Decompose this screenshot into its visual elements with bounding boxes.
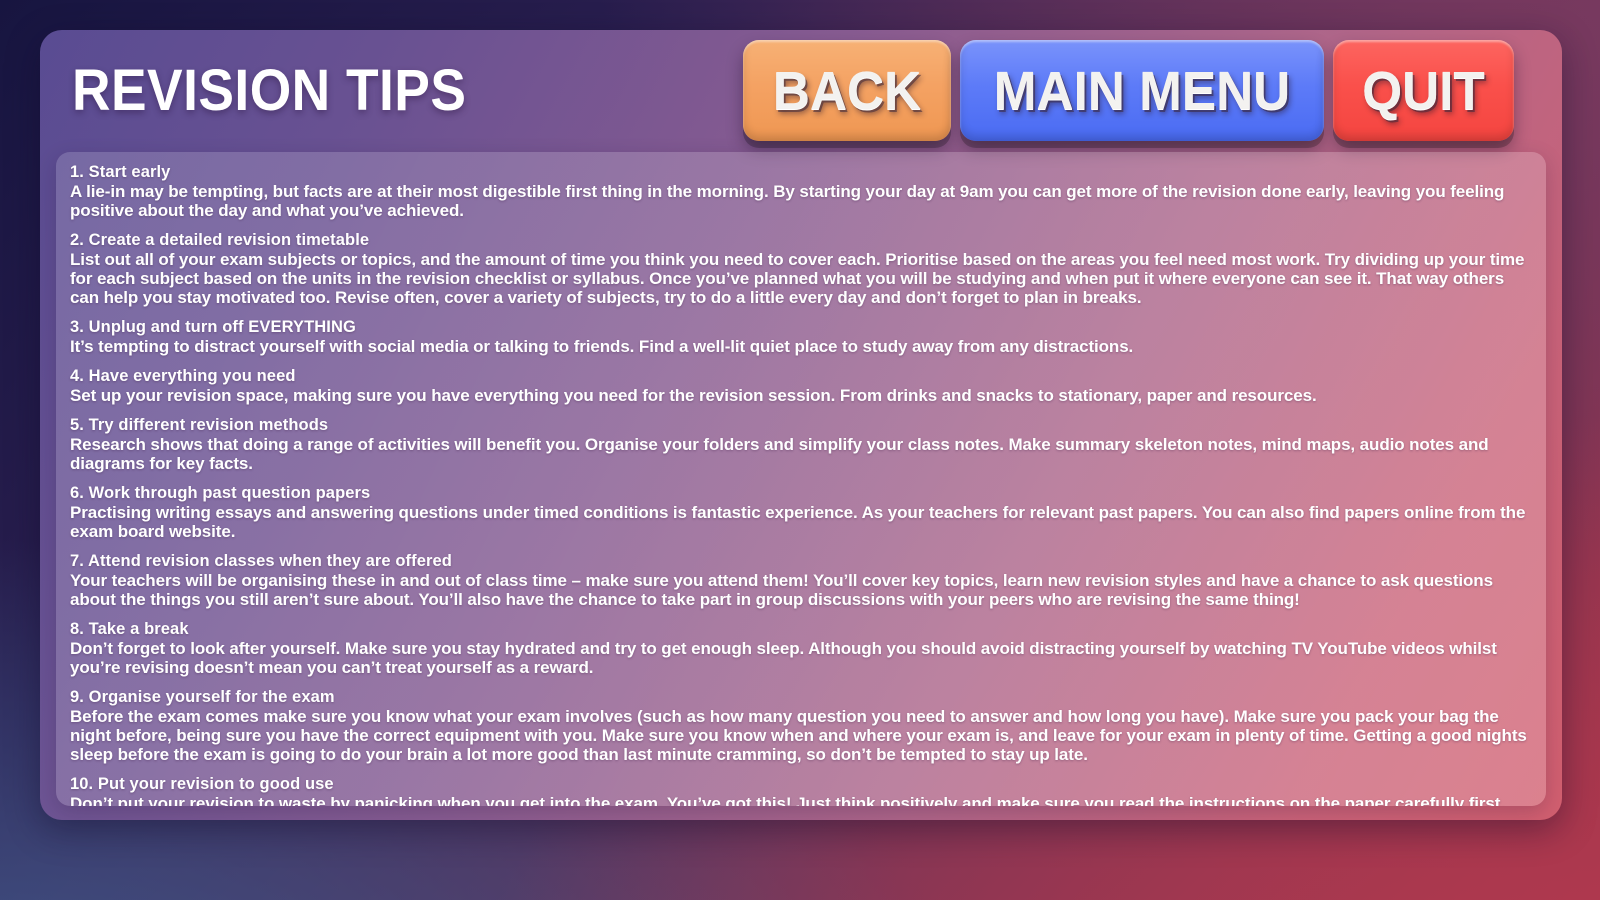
tip-heading: 3. Unplug and turn off EVERYTHING xyxy=(70,318,1528,337)
tip-body: Don’t put your revision to waste by pani… xyxy=(70,794,1528,806)
quit-button[interactable]: QUIT xyxy=(1333,40,1514,141)
back-button[interactable]: BACK xyxy=(743,40,951,141)
back-button-label: BACK xyxy=(773,64,921,118)
navigation-button-group: BACK MAIN MENU QUIT xyxy=(743,40,1514,141)
tip-body: List out all of your exam subjects or to… xyxy=(70,250,1528,307)
tip-heading: 9. Organise yourself for the exam xyxy=(70,688,1528,707)
tip-body: Don’t forget to look after yourself. Mak… xyxy=(70,639,1528,677)
tip-item: 1. Start early A lie-in may be tempting,… xyxy=(70,163,1528,220)
tip-item: 3. Unplug and turn off EVERYTHING It’s t… xyxy=(70,318,1528,356)
window-header: REVISION TIPS BACK MAIN MENU QUIT xyxy=(40,30,1562,150)
tip-body: Your teachers will be organising these i… xyxy=(70,571,1528,609)
tip-body: Practising writing essays and answering … xyxy=(70,503,1528,541)
tip-heading: 8. Take a break xyxy=(70,620,1528,639)
tip-heading: 10. Put your revision to good use xyxy=(70,775,1528,794)
tip-item: 6. Work through past question papers Pra… xyxy=(70,484,1528,541)
tip-item: 10. Put your revision to good use Don’t … xyxy=(70,775,1528,806)
tip-body: A lie-in may be tempting, but facts are … xyxy=(70,182,1528,220)
quit-button-label: QUIT xyxy=(1362,64,1485,118)
tip-item: 9. Organise yourself for the exam Before… xyxy=(70,688,1528,764)
tip-body: Before the exam comes make sure you know… xyxy=(70,707,1528,764)
tip-item: 8. Take a break Don’t forget to look aft… xyxy=(70,620,1528,677)
main-menu-button[interactable]: MAIN MENU xyxy=(960,40,1324,141)
tip-heading: 4. Have everything you need xyxy=(70,367,1528,386)
tip-item: 4. Have everything you need Set up your … xyxy=(70,367,1528,405)
tip-heading: 6. Work through past question papers xyxy=(70,484,1528,503)
tip-body: It’s tempting to distract yourself with … xyxy=(70,337,1528,356)
tip-heading: 5. Try different revision methods xyxy=(70,416,1528,435)
tip-heading: 1. Start early xyxy=(70,163,1528,182)
tip-item: 2. Create a detailed revision timetable … xyxy=(70,231,1528,307)
tips-content-panel: 1. Start early A lie-in may be tempting,… xyxy=(56,152,1546,806)
main-menu-button-label: MAIN MENU xyxy=(994,64,1290,118)
tip-heading: 7. Attend revision classes when they are… xyxy=(70,552,1528,571)
tip-item: 7. Attend revision classes when they are… xyxy=(70,552,1528,609)
tip-body: Research shows that doing a range of act… xyxy=(70,435,1528,473)
revision-tips-window: REVISION TIPS BACK MAIN MENU QUIT 1. Sta… xyxy=(40,30,1562,820)
tip-body: Set up your revision space, making sure … xyxy=(70,386,1528,405)
tip-heading: 2. Create a detailed revision timetable xyxy=(70,231,1528,250)
page-title: REVISION TIPS xyxy=(72,62,466,120)
tip-item: 5. Try different revision methods Resear… xyxy=(70,416,1528,473)
